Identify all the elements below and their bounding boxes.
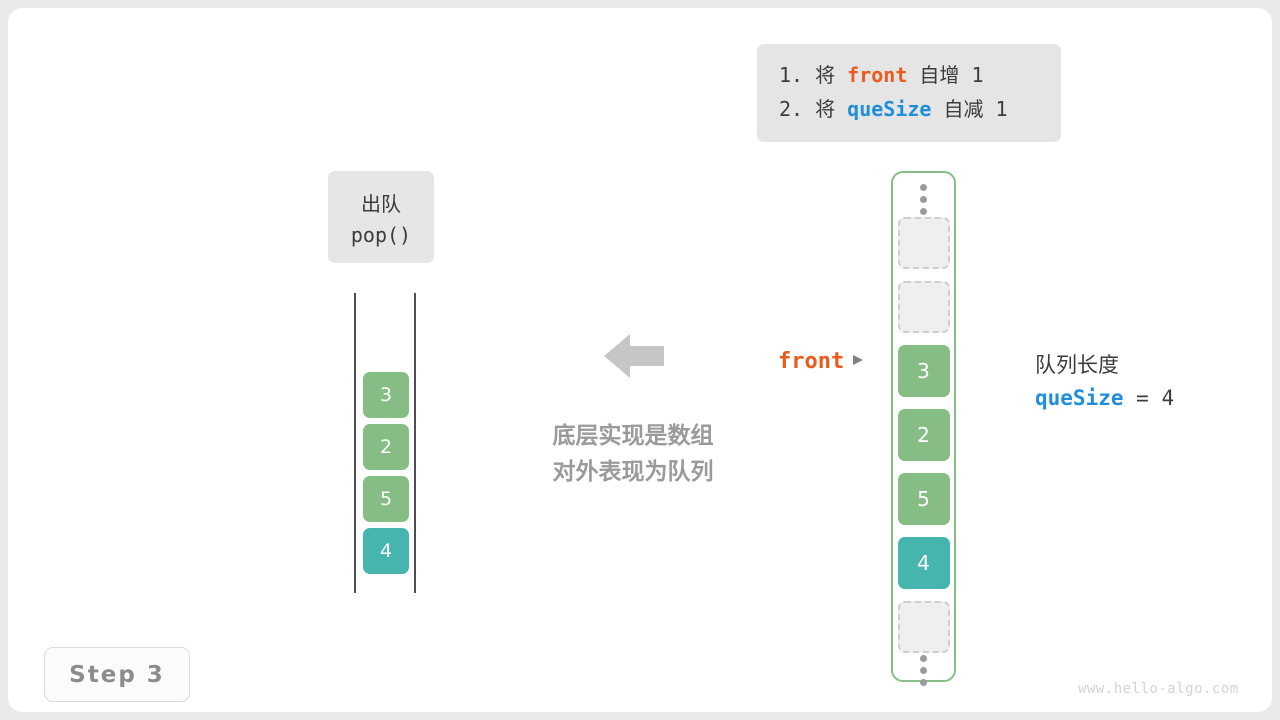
instruction-line-1: 1. 将 front 自增 1 <box>779 58 1039 92</box>
instruction-line-2: 2. 将 queSize 自减 1 <box>779 92 1039 126</box>
instruction-line-1-keyword: front <box>847 63 907 87</box>
array-cell-4: 5 <box>898 473 950 525</box>
front-pointer: front <box>778 349 865 374</box>
array-cell-2: 3 <box>898 345 950 397</box>
instruction-line-1-suffix: 自增 1 <box>907 63 983 87</box>
array-cell-empty-0 <box>898 217 950 269</box>
queue-rail-right <box>414 293 416 593</box>
front-pointer-label: front <box>778 349 844 374</box>
diagram-canvas: 1. 将 front 自增 1 2. 将 queSize 自减 1 出队 pop… <box>8 8 1272 712</box>
step-badge: Step 3 <box>44 647 190 702</box>
operation-box-title: 出队 <box>361 188 401 217</box>
queue-rail-left <box>354 293 356 593</box>
queue-cell-3: 4 <box>363 528 409 574</box>
center-caption-line-2: 对外表现为队列 <box>528 454 738 490</box>
queue-cell-list: 3254 <box>363 372 409 574</box>
operation-box-function: pop() <box>351 223 411 247</box>
quesize-operator: = <box>1124 386 1162 410</box>
instruction-line-2-prefix: 2. 将 <box>779 97 847 121</box>
quesize-note-expression: queSize = 4 <box>1035 381 1174 415</box>
watermark: www.hello-algo.com <box>1078 681 1239 697</box>
quesize-note-title: 队列长度 <box>1035 349 1174 381</box>
array-cell-5: 4 <box>898 537 950 589</box>
center-caption: 底层实现是数组 对外表现为队列 <box>528 418 738 490</box>
queue-container: 3254 <box>354 293 416 593</box>
array-cell-empty-1 <box>898 281 950 333</box>
quesize-variable: queSize <box>1035 386 1124 410</box>
queue-cell-2: 5 <box>363 476 409 522</box>
array-container: 3254 <box>891 171 956 682</box>
front-pointer-arrow-icon <box>851 352 865 371</box>
center-caption-line-1: 底层实现是数组 <box>528 418 738 454</box>
quesize-value: 4 <box>1161 386 1174 410</box>
queue-cell-0: 3 <box>363 372 409 418</box>
instruction-line-2-suffix: 自减 1 <box>931 97 1007 121</box>
queue-cell-1: 2 <box>363 424 409 470</box>
step-badge-label: Step 3 <box>69 662 165 688</box>
quesize-note: 队列长度 queSize = 4 <box>1035 349 1174 415</box>
array-cell-3: 2 <box>898 409 950 461</box>
array-ellipsis-top-icon <box>920 184 927 215</box>
instruction-box: 1. 将 front 自增 1 2. 将 queSize 自减 1 <box>757 44 1061 142</box>
instruction-line-2-keyword: queSize <box>847 97 931 121</box>
array-cell-list: 3254 <box>898 217 950 653</box>
operation-box-pop: 出队 pop() <box>328 171 434 263</box>
array-ellipsis-bottom-icon <box>920 655 927 686</box>
flow-arrow-left-icon <box>604 332 664 380</box>
array-cell-empty-6 <box>898 601 950 653</box>
instruction-line-1-prefix: 1. 将 <box>779 63 847 87</box>
